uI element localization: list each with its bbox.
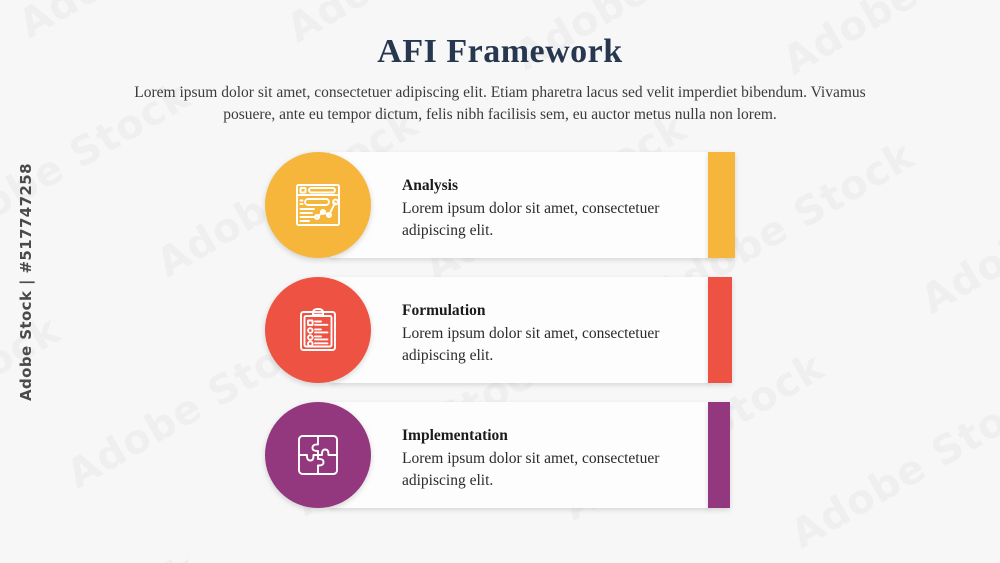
card-body: Lorem ipsum dolor sit amet, consectetuer…	[402, 448, 702, 492]
card-accent-bar	[708, 152, 735, 258]
card-text: FormulationLorem ipsum dolor sit amet, c…	[402, 301, 702, 367]
report-chart-icon	[292, 179, 344, 231]
slide-canvas: Adobe StockAdobe StockAdobe StockAdobe S…	[0, 0, 1000, 563]
card-heading: Implementation	[402, 426, 702, 447]
card-body-line-2: adipiscing elit.	[402, 220, 702, 242]
watermark-text: Adobe Stock	[197, 550, 474, 563]
page-subtitle-line-1: Lorem ipsum dolor sit amet, consectetuer…	[134, 84, 807, 101]
watermark-text: Adobe Stock	[0, 546, 206, 563]
card-heading: Formulation	[402, 301, 702, 322]
page-title: AFI Framework	[0, 32, 1000, 73]
card-body-line-2: adipiscing elit.	[402, 470, 702, 492]
puzzle-pieces-icon	[292, 429, 344, 481]
card-text: ImplementationLorem ipsum dolor sit amet…	[402, 426, 702, 492]
card-text: AnalysisLorem ipsum dolor sit amet, cons…	[402, 176, 702, 242]
card-accent-bar	[708, 277, 732, 383]
card-icon-circle[interactable]	[265, 152, 371, 258]
card-list: AnalysisLorem ipsum dolor sit amet, cons…	[0, 152, 1000, 527]
header: AFI Framework Lorem ipsum dolor sit amet…	[0, 32, 1000, 126]
card-heading: Analysis	[402, 176, 702, 197]
page-subtitle: Lorem ipsum dolor sit amet, consectetuer…	[120, 82, 880, 126]
card-icon-circle[interactable]	[265, 402, 371, 508]
card-accent-bar	[708, 402, 730, 508]
card-icon-circle[interactable]	[265, 277, 371, 383]
card-row[interactable]: FormulationLorem ipsum dolor sit amet, c…	[0, 277, 1000, 383]
clipboard-checklist-icon	[292, 304, 344, 356]
card-body-line-2: adipiscing elit.	[402, 345, 702, 367]
card-body-line-1: Lorem ipsum dolor sit amet, consectetuer	[402, 448, 702, 470]
card-row[interactable]: AnalysisLorem ipsum dolor sit amet, cons…	[0, 152, 1000, 258]
card-body: Lorem ipsum dolor sit amet, consectetuer…	[402, 198, 702, 242]
card-body: Lorem ipsum dolor sit amet, consectetuer…	[402, 323, 702, 367]
card-row[interactable]: ImplementationLorem ipsum dolor sit amet…	[0, 402, 1000, 508]
card-body-line-1: Lorem ipsum dolor sit amet, consectetuer	[402, 198, 702, 220]
card-body-line-1: Lorem ipsum dolor sit amet, consectetuer	[402, 323, 702, 345]
